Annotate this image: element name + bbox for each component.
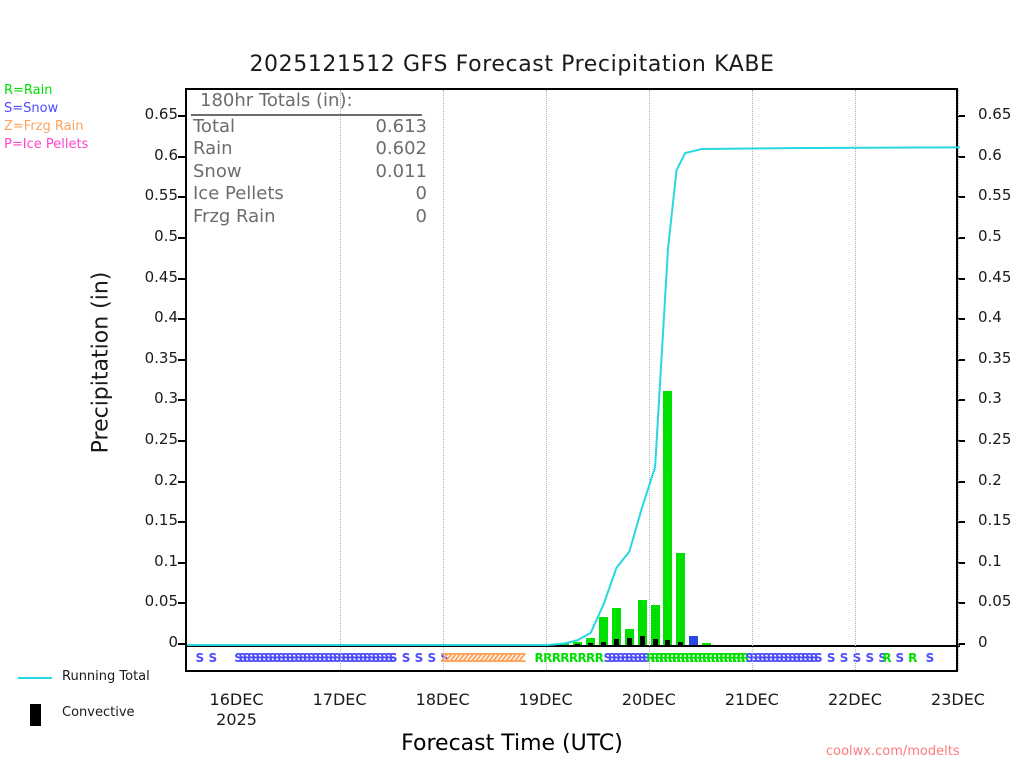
x-tick-label: 17DEC [313, 690, 367, 709]
ptype-marker: S [814, 650, 823, 666]
x-tick-label: 22DEC [828, 690, 882, 709]
ptype-marker: S [196, 650, 205, 666]
y-tick-label-right: 0.45 [978, 268, 1011, 286]
convective-bar [588, 643, 593, 645]
grid-line [649, 90, 650, 670]
series-legend: Running TotalConvective [10, 666, 180, 738]
legend-item-label: Convective [62, 705, 135, 720]
y-tick-label-right: 0.1 [978, 552, 1002, 570]
totals-row-label: Snow [193, 161, 242, 184]
totals-row-value: 0 [343, 183, 427, 206]
convective-bar [614, 639, 619, 645]
rain-bar [599, 617, 608, 645]
y-tick-label-right: 0.55 [978, 186, 1011, 204]
totals-row: Ice Pellets0 [191, 183, 441, 206]
totals-row: Snow0.011 [191, 161, 441, 184]
legend-item-label: Running Total [62, 669, 150, 684]
y-tick-label-right: 0.6 [978, 146, 1002, 164]
ptype-marker: S [865, 650, 874, 666]
x-axis-year-label: 2025 [216, 710, 257, 729]
y-tick-label-right: 0.4 [978, 308, 1002, 326]
chart-page: 2025121512 GFS Forecast Precipitation KA… [0, 0, 1024, 768]
x-tick-label: 20DEC [622, 690, 676, 709]
x-tick-label: 16DEC [210, 690, 264, 709]
x-tick-label: 23DEC [931, 690, 985, 709]
ptype-marker: S [208, 650, 217, 666]
x-tick-label: 18DEC [416, 690, 470, 709]
totals-box: 180hr Totals (in): Total0.613Rain0.602Sn… [191, 90, 441, 228]
convective-bar [653, 639, 658, 645]
grid-line [443, 90, 444, 670]
totals-rows: Total0.613Rain0.602Snow0.011Ice Pellets0… [191, 116, 441, 229]
totals-row-value: 0.613 [343, 116, 427, 139]
totals-heading: 180hr Totals (in): [191, 90, 422, 116]
totals-row: Total0.613 [191, 116, 441, 139]
totals-row-value: 0.011 [343, 161, 427, 184]
totals-row-label: Rain [193, 138, 233, 161]
y-tick-label-right: 0.5 [978, 227, 1002, 245]
convective-bar [601, 642, 606, 645]
legend-item-0: Running Total [10, 666, 180, 702]
ptype-marker: S [853, 650, 862, 666]
convective-bar [678, 642, 683, 645]
y-tick-label-right: 0.2 [978, 471, 1002, 489]
ptype-marker: S [840, 650, 849, 666]
y-tick-label-right: 0.3 [978, 389, 1002, 407]
ptype-marker: R [595, 650, 604, 666]
running-total-line-icon [18, 677, 52, 679]
ptype-marker-row: SSSSSSSSSSSSSSSSSSSSSSSSSSSSSSSSSSSSSSSS… [187, 650, 960, 666]
ptype-marker: S [926, 650, 935, 666]
y-tick-label-right: 0.25 [978, 430, 1011, 448]
grid-line [752, 90, 753, 670]
x-tick-label: 19DEC [519, 690, 573, 709]
watermark: coolwx.com/modelts [826, 744, 960, 759]
grid-line [546, 90, 547, 670]
rain-bar [663, 391, 672, 645]
ptype-marker: S [827, 650, 836, 666]
ptype-marker: S [402, 650, 411, 666]
y-tick-label-right: 0.05 [978, 592, 1011, 610]
ptype-marker: S [427, 650, 436, 666]
ptype-marker: S [896, 650, 905, 666]
ptype-marker: R [908, 650, 917, 666]
y-tick-label-right: 0.15 [978, 511, 1011, 529]
grid-line [958, 90, 959, 670]
x-tick-label: 21DEC [725, 690, 779, 709]
y-tick-label-right: 0.65 [978, 105, 1011, 123]
grid-line [855, 90, 856, 670]
rain-bar [676, 553, 685, 645]
totals-row-label: Frzg Rain [193, 206, 276, 229]
ptype-marker: S [389, 650, 398, 666]
totals-row-value: 0.602 [343, 138, 427, 161]
ptype-marker: R [882, 650, 891, 666]
snow-bar [689, 636, 698, 645]
totals-row-value: 0 [343, 206, 427, 229]
zero-baseline [187, 645, 960, 647]
y-tick-label-right: 0 [978, 633, 988, 651]
convective-bar [640, 636, 645, 645]
rain-bar [560, 643, 569, 645]
y-tick-label-right: 0.35 [978, 349, 1011, 367]
convective-bar [665, 640, 670, 645]
totals-row: Frzg Rain0 [191, 206, 441, 229]
totals-row-label: Ice Pellets [193, 183, 284, 206]
convective-bar [627, 638, 632, 645]
totals-row-label: Total [193, 116, 235, 139]
ptype-marker: S [415, 650, 424, 666]
rain-bar [702, 643, 711, 645]
convective-swatch-icon [30, 704, 41, 726]
totals-row: Rain0.602 [191, 138, 441, 161]
convective-bar [575, 644, 580, 645]
ptype-marker: Z [518, 650, 527, 666]
